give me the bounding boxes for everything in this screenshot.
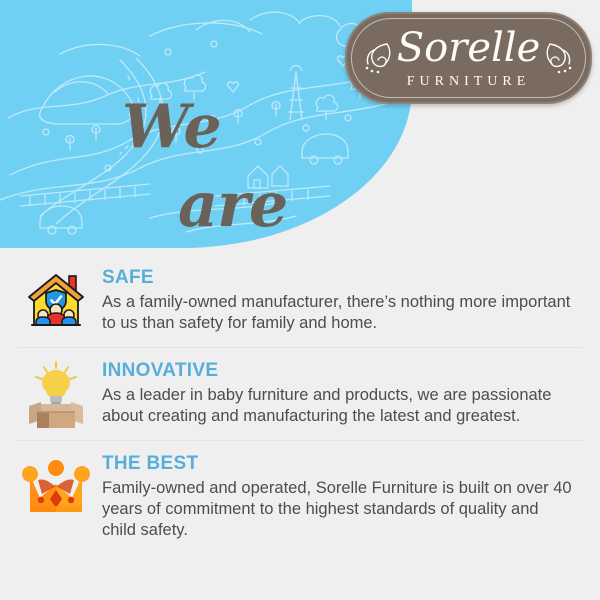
feature-text: Family-owned and operated, Sorelle Furni… <box>102 478 572 541</box>
feature-body: SAFE As a family-owned manufacturer, the… <box>94 263 572 334</box>
feature-list: SAFE As a family-owned manufacturer, the… <box>0 255 600 549</box>
sorelle-logo[interactable]: Sorelle FURNITURE <box>345 12 592 104</box>
feature-title: SAFE <box>102 267 572 289</box>
feature-item-safe: SAFE As a family-owned manufacturer, the… <box>0 255 600 347</box>
logo-subtitle: FURNITURE <box>347 74 590 90</box>
crown-icon <box>18 449 94 525</box>
feature-body: THE BEST Family-owned and operated, Sore… <box>94 449 572 541</box>
feature-title: THE BEST <box>102 453 572 475</box>
feature-title: INNOVATIVE <box>102 360 572 382</box>
feature-item-the-best: THE BEST Family-owned and operated, Sore… <box>0 441 600 549</box>
promo-page: We are Sore <box>0 0 600 600</box>
feature-body: INNOVATIVE As a leader in baby furniture… <box>94 356 572 427</box>
logo-name: Sorelle <box>347 26 590 70</box>
feature-item-innovative: INNOVATIVE As a leader in baby furniture… <box>0 348 600 440</box>
feature-text: As a leader in baby furniture and produc… <box>102 385 572 427</box>
lightbulb-box-icon <box>18 356 94 432</box>
house-family-shield-icon <box>18 263 94 339</box>
feature-text: As a family-owned manufacturer, there’s … <box>102 292 572 334</box>
